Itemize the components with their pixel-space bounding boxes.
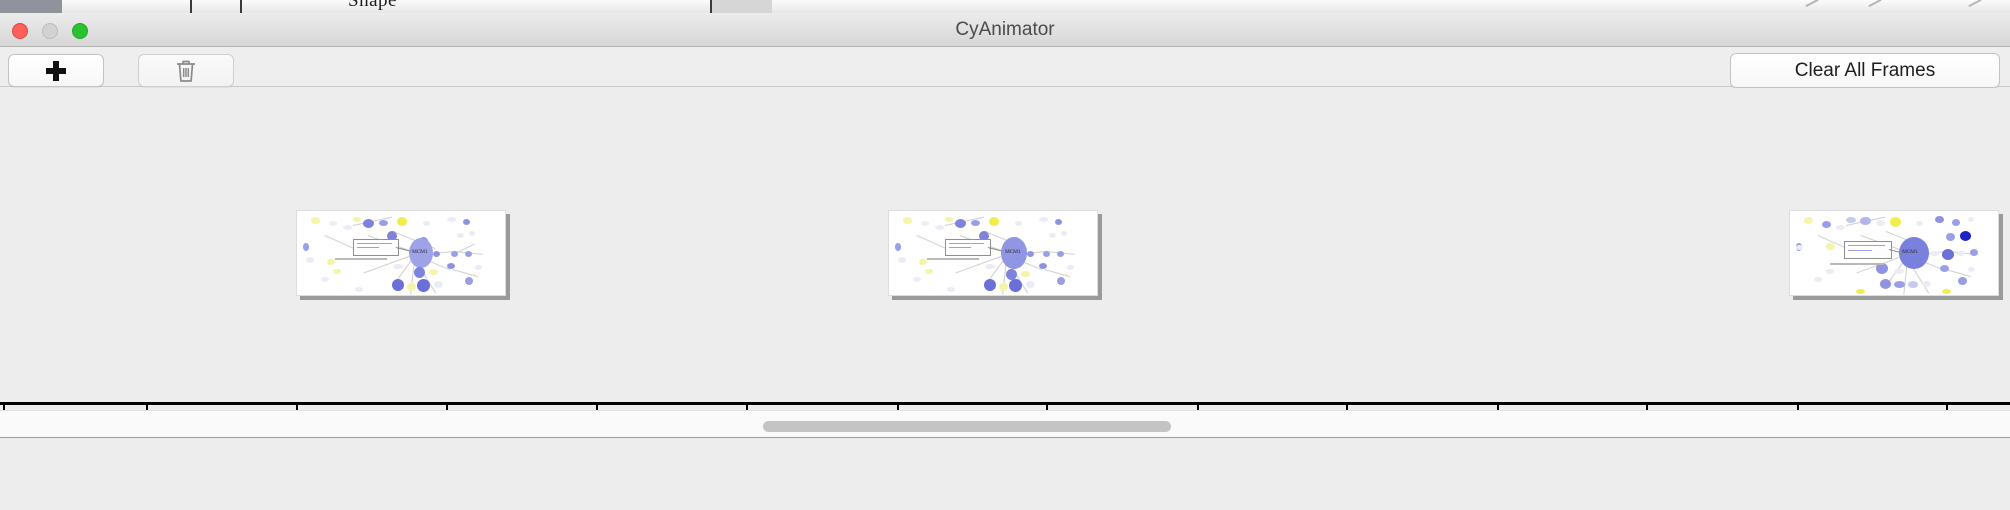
- add-frame-button[interactable]: [8, 54, 104, 87]
- timeline-scrollbar-thumb[interactable]: [763, 421, 1171, 432]
- frame-node-label: MCM1: [412, 249, 427, 255]
- title-bar: CyAnimator: [0, 13, 2010, 47]
- timeline-frame[interactable]: MCM1: [1789, 210, 2003, 300]
- timeline-panel[interactable]: MCM1: [0, 88, 2010, 410]
- timeline-frame[interactable]: MCM1: [296, 210, 510, 300]
- background-selected-tab: [0, 0, 62, 13]
- frame-node-label: MCM1: [1005, 249, 1020, 255]
- window-title: CyAnimator: [0, 13, 2010, 47]
- frame-node-label: MCM1: [1902, 249, 1917, 255]
- trash-icon: [174, 58, 198, 84]
- timeline-frame[interactable]: MCM1: [888, 210, 1102, 300]
- cyanimator-window: Shape CyAnimator Clear All Frames: [0, 0, 2010, 510]
- delete-frame-button[interactable]: [138, 54, 234, 87]
- background-window-strip: Shape: [0, 0, 2010, 13]
- background-shape-label: Shape: [348, 0, 397, 12]
- plus-icon: [46, 61, 66, 81]
- timeline-axis-line: [0, 402, 2010, 405]
- frame-thumbnail: MCM1: [888, 210, 1098, 296]
- frame-thumbnail: MCM1: [1789, 210, 1999, 296]
- transport-bar: ↻ Animation Speed:: [0, 438, 2010, 510]
- toolbar: Clear All Frames: [0, 47, 2010, 87]
- frame-thumbnail: MCM1: [296, 210, 506, 296]
- clear-all-frames-button[interactable]: Clear All Frames: [1730, 53, 2000, 88]
